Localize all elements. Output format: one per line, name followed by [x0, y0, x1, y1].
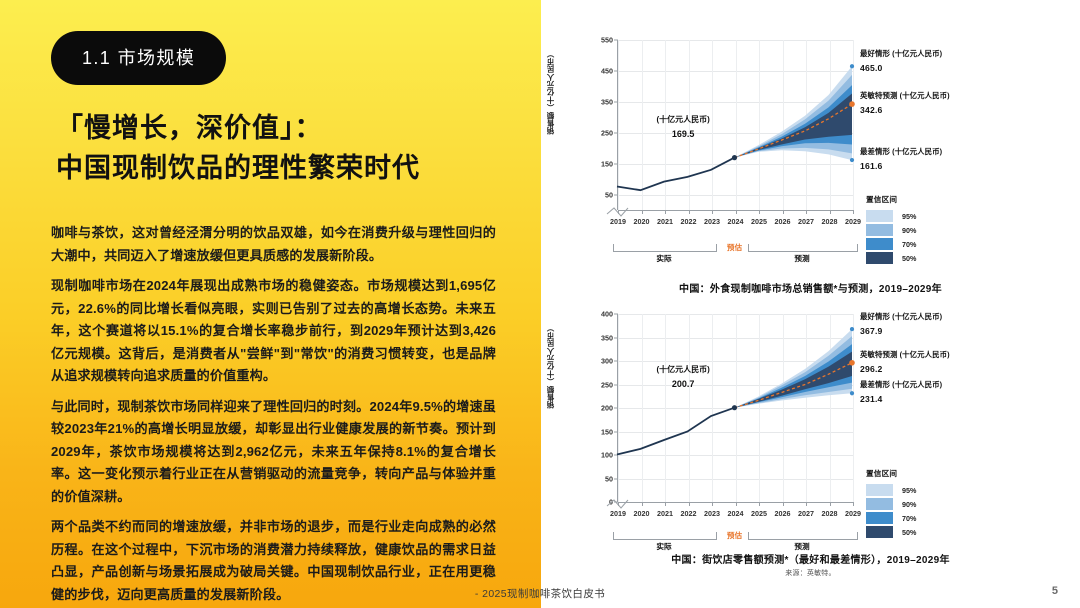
x-axis-tick-mark	[783, 502, 784, 506]
x-axis-tick-mark	[736, 502, 737, 506]
anchor-label-value: 200.7	[657, 379, 710, 389]
y-axis-tick-label: 450	[601, 66, 613, 75]
y-axis-tick-label: 150	[601, 159, 613, 168]
x-axis-tick-mark	[853, 502, 854, 506]
annotation-value: 367.9	[860, 326, 942, 336]
y-axis-tick-label: 300	[601, 357, 613, 366]
worst-case-annotation: 最差情形 (十亿元人民币)231.4	[860, 379, 942, 404]
x-axis-tick-label: 2025	[751, 217, 767, 226]
actual-bracket-label: 实际	[656, 253, 671, 264]
annotation-title: 最差情形 (十亿元人民币)	[860, 379, 942, 390]
x-gridline	[783, 314, 784, 502]
x-axis-tick-label: 2029	[845, 217, 861, 226]
y-axis-tick-label: 550	[601, 36, 613, 45]
legend-item-50: 50%	[866, 526, 916, 538]
x-gridline	[642, 314, 643, 502]
legend-swatch	[866, 512, 893, 524]
x-axis-tick-label: 2025	[751, 509, 767, 518]
x-axis-tick-label: 2021	[657, 509, 673, 518]
x-axis-tick-label: 2022	[681, 509, 697, 518]
whitepaper-page: 1.1 市场规模 「慢增长，深价值」： 中国现制饮品的理性繁荣时代 咖啡与茶饮，…	[0, 0, 1080, 608]
chart-tea-market: 0501001502002503003504002019202020212022…	[541, 306, 1080, 594]
x-gridline	[759, 314, 760, 502]
x-axis-tick-label: 2020	[634, 217, 650, 226]
x-gridline	[618, 40, 619, 210]
anchor-annotation: (十亿元人民币)169.5	[657, 114, 710, 139]
annotation-value: 465.0	[860, 63, 942, 73]
x-axis-tick-label: 2028	[822, 509, 838, 518]
y-axis-tick-label: 50	[605, 190, 613, 199]
x-axis-tick-label: 2028	[822, 217, 838, 226]
legend-item-95: 95%	[866, 484, 916, 496]
legend-swatch	[866, 498, 893, 510]
anchor-label-value: 169.5	[657, 129, 710, 139]
annotation-title: 最好情形 (十亿元人民币)	[860, 48, 942, 59]
chart-title: 中国：外食现制咖啡市场总销售额*与预测，2019–2029年	[541, 280, 1080, 295]
y-axis-tick-label: 400	[601, 310, 613, 319]
confidence-interval-legend: 置信区间95%90%70%50%	[866, 194, 916, 266]
actual-bracket	[613, 532, 717, 540]
chart-coffee-inner: 5015025035045055020192020202120222023202…	[541, 22, 1080, 304]
legend-label: 70%	[902, 514, 916, 523]
y-axis-tick-label: 100	[601, 451, 613, 460]
legend-swatch	[866, 210, 893, 222]
legend-label: 95%	[902, 212, 916, 221]
y-axis-tick-label: 350	[601, 333, 613, 342]
best-case-annotation: 最好情形 (十亿元人民币)465.0	[860, 48, 942, 73]
y-axis-tick-label: 250	[601, 380, 613, 389]
x-axis-tick-label: 2022	[681, 217, 697, 226]
x-gridline	[783, 40, 784, 210]
forecast-bracket-label: 预测	[794, 253, 809, 264]
paragraph-2: 现制咖啡市场在2024年展现出成熟市场的稳健姿态。市场规模达到1,695亿元，2…	[51, 275, 496, 388]
annotation-title: 最好情形 (十亿元人民币)	[860, 311, 942, 322]
x-axis-tick-label: 2023	[704, 509, 720, 518]
x-axis-tick-mark	[806, 210, 807, 214]
x-axis-tick-mark	[618, 210, 619, 214]
legend-swatch	[866, 484, 893, 496]
annotation-value: 231.4	[860, 394, 942, 404]
x-axis-tick-label: 2027	[798, 217, 814, 226]
charts-area: 5015025035045055020192020202120222023202…	[541, 0, 1080, 608]
x-axis-tick-mark	[736, 210, 737, 214]
annotation-title: 英敏特预测 (十亿元人民币)	[860, 349, 950, 360]
x-axis-tick-mark	[712, 210, 713, 214]
x-axis-tick-mark	[689, 502, 690, 506]
y-axis-tick-label: 50	[605, 474, 613, 483]
x-axis-tick-label: 2019	[610, 509, 626, 518]
paragraph-3: 与此同时，现制茶饮市场同样迎来了理性回归的时刻。2024年9.5%的增速虽较20…	[51, 396, 496, 509]
annotation-value: 161.6	[860, 161, 942, 171]
left-yellow-panel: 1.1 市场规模 「慢增长，深价值」： 中国现制饮品的理性繁荣时代 咖啡与茶饮，…	[0, 0, 541, 608]
x-axis-tick-mark	[642, 502, 643, 506]
legend-swatch	[866, 252, 893, 264]
x-gridline	[712, 314, 713, 502]
x-gridline	[830, 314, 831, 502]
x-axis-tick-mark	[689, 210, 690, 214]
plot-area: 0501001502002503003504002019202020212022…	[617, 314, 853, 502]
legend-swatch	[866, 526, 893, 538]
legend-item-70: 70%	[866, 238, 916, 250]
anchor-label-title: (十亿元人民币)	[657, 364, 710, 375]
legend-swatch	[866, 238, 893, 250]
x-gridline	[618, 314, 619, 502]
page-number: 5	[1052, 585, 1058, 597]
chart-title: 中国：街饮店零售额预测*（最好和最差情形），2019–2029年	[541, 551, 1080, 566]
x-gridline	[712, 40, 713, 210]
legend-label: 50%	[902, 254, 916, 263]
actual-bracket	[613, 244, 717, 252]
chart-coffee-market: 5015025035045055020192020202120222023202…	[541, 22, 1080, 304]
section-badge: 1.1 市场规模	[51, 31, 226, 85]
section-badge-label: 1.1 市场规模	[82, 44, 195, 70]
legend-item-90: 90%	[866, 498, 916, 510]
legend-title: 置信区间	[866, 194, 916, 205]
x-axis-tick-mark	[642, 210, 643, 214]
forecast-bracket	[748, 244, 858, 252]
legend-item-50: 50%	[866, 252, 916, 264]
annotation-title: 最差情形 (十亿元人民币)	[860, 146, 942, 157]
legend-label: 50%	[902, 528, 916, 537]
mintel-forecast-annotation: 英敏特预测 (十亿元人民币)296.2	[860, 349, 950, 374]
anchor-annotation: (十亿元人民币)200.7	[657, 364, 710, 389]
legend-item-90: 90%	[866, 224, 916, 236]
x-axis-tick-label: 2024	[728, 217, 744, 226]
x-axis-tick-label: 2026	[775, 217, 791, 226]
y-axis-tick-label: 200	[601, 404, 613, 413]
confidence-interval-legend: 置信区间95%90%70%50%	[866, 468, 916, 540]
estimate-label: 预估	[727, 530, 742, 541]
y-axis-label: 销售额（十亿元人民币）	[545, 324, 556, 409]
annotation-title: 英敏特预测 (十亿元人民币)	[860, 90, 950, 101]
x-gridline	[736, 314, 737, 502]
legend-item-95: 95%	[866, 210, 916, 222]
page-title: 「慢增长，深价值」： 中国现制饮品的理性繁荣时代	[56, 109, 526, 189]
x-axis-tick-mark	[618, 502, 619, 506]
legend-label: 70%	[902, 240, 916, 249]
x-gridline	[642, 40, 643, 210]
mintel-forecast-annotation: 英敏特预测 (十亿元人民币)342.6	[860, 90, 950, 115]
x-gridline	[736, 40, 737, 210]
headline-line-1: 「慢增长，深价值」：	[56, 113, 323, 143]
legend-label: 90%	[902, 226, 916, 235]
x-axis-tick-mark	[665, 502, 666, 506]
y-axis-tick-label: 250	[601, 128, 613, 137]
x-axis-tick-label: 2023	[704, 217, 720, 226]
x-gridline	[853, 40, 854, 210]
x-gridline	[759, 40, 760, 210]
worst-case-annotation: 最差情形 (十亿元人民币)161.6	[860, 146, 942, 171]
x-axis-tick-label: 2020	[634, 509, 650, 518]
legend-title: 置信区间	[866, 468, 916, 479]
x-axis-tick-label: 2019	[610, 217, 626, 226]
plot-area: 5015025035045055020192020202120222023202…	[617, 40, 853, 210]
x-axis-tick-label: 2029	[845, 509, 861, 518]
x-axis-tick-mark	[853, 210, 854, 214]
legend-label: 90%	[902, 500, 916, 509]
x-gridline	[806, 40, 807, 210]
best-case-annotation: 最好情形 (十亿元人民币)367.9	[860, 311, 942, 336]
x-axis-tick-label: 2021	[657, 217, 673, 226]
legend-label: 95%	[902, 486, 916, 495]
y-axis-tick-label: 150	[601, 427, 613, 436]
legend-item-70: 70%	[866, 512, 916, 524]
x-gridline	[830, 40, 831, 210]
x-axis-tick-mark	[759, 502, 760, 506]
paragraph-1: 咖啡与茶饮，这对曾经泾渭分明的饮品双雄，如今在消费升级与理性回归的大潮中，共同迈…	[51, 222, 496, 267]
x-axis-tick-mark	[830, 210, 831, 214]
x-axis-tick-mark	[783, 210, 784, 214]
x-axis-tick-mark	[712, 502, 713, 506]
x-axis-tick-mark	[665, 210, 666, 214]
annotation-value: 296.2	[860, 364, 950, 374]
forecast-bracket	[748, 532, 858, 540]
x-gridline	[689, 314, 690, 502]
x-axis-tick-mark	[830, 502, 831, 506]
body-copy: 咖啡与茶饮，这对曾经泾渭分明的饮品双雄，如今在消费升级与理性回归的大潮中，共同迈…	[51, 222, 496, 606]
footer-note: - 2025现制咖啡茶饮白皮书	[0, 586, 1080, 601]
x-axis-tick-label: 2027	[798, 509, 814, 518]
x-axis-tick-label: 2026	[775, 509, 791, 518]
x-gridline	[665, 314, 666, 502]
x-gridline	[853, 314, 854, 502]
anchor-label-title: (十亿元人民币)	[657, 114, 710, 125]
x-axis-tick-label: 2024	[728, 509, 744, 518]
legend-swatch	[866, 224, 893, 236]
x-axis-tick-mark	[806, 502, 807, 506]
headline-line-2: 中国现制饮品的理性繁荣时代	[56, 149, 526, 189]
x-axis-tick-mark	[759, 210, 760, 214]
chart-tea-inner: 0501001502002503003504002019202020212022…	[541, 306, 1080, 594]
y-axis-label: 销售额（十亿元人民币）	[545, 50, 556, 135]
chart-source: 来源：英敏特。	[541, 568, 1080, 578]
annotation-value: 342.6	[860, 105, 950, 115]
estimate-label: 预估	[727, 242, 742, 253]
y-axis-tick-label: 0	[609, 498, 613, 507]
y-axis-tick-label: 350	[601, 97, 613, 106]
x-gridline	[806, 314, 807, 502]
